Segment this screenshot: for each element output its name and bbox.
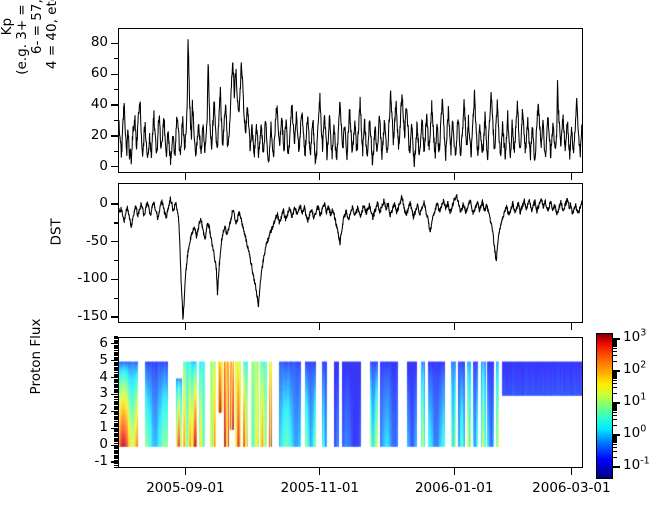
colorbar-tick-minor bbox=[613, 375, 617, 376]
axis-title-line: 6- = 57, bbox=[30, 0, 45, 75]
colorbar-tick-minor bbox=[613, 436, 617, 437]
y-tick-minor bbox=[114, 433, 118, 434]
y-tick-minor bbox=[114, 385, 118, 386]
colorbar-exponent: -1 bbox=[640, 456, 649, 467]
kp-plot-panel bbox=[118, 28, 583, 173]
y-tick-label: 4 bbox=[99, 371, 108, 385]
y-tick-minor bbox=[114, 389, 118, 390]
x-tick bbox=[454, 173, 455, 180]
y-tick-major bbox=[111, 104, 118, 105]
colorbar-exponent: 3 bbox=[640, 328, 646, 339]
y-tick-minor bbox=[114, 353, 118, 354]
y-tick-minor bbox=[114, 416, 118, 417]
y-tick-minor bbox=[114, 455, 118, 456]
y-tick-minor bbox=[114, 379, 118, 380]
y-tick-minor bbox=[114, 409, 118, 410]
colorbar-tick-minor bbox=[613, 355, 617, 356]
colorbar-exponent: 0 bbox=[640, 424, 646, 435]
y-tick-minor bbox=[114, 338, 118, 339]
y-tick-minor bbox=[114, 348, 118, 349]
dst-plot-panel bbox=[118, 183, 583, 323]
x-tick bbox=[454, 323, 455, 330]
x-tick bbox=[571, 323, 572, 330]
y-tick-major bbox=[111, 43, 118, 44]
colorbar-tick-label: 103 bbox=[623, 331, 646, 345]
colorbar-tick-minor bbox=[613, 341, 617, 342]
y-tick-minor bbox=[114, 120, 118, 121]
y-tick-label: -150 bbox=[77, 310, 108, 324]
colorbar-tick-minor bbox=[613, 444, 617, 445]
y-tick-label: 5 bbox=[99, 354, 108, 368]
y-tick-minor bbox=[114, 390, 118, 391]
x-tick bbox=[185, 468, 186, 475]
x-tick bbox=[571, 468, 572, 475]
y-tick-minor bbox=[114, 368, 118, 369]
y-tick-minor bbox=[114, 434, 118, 435]
y-tick-major bbox=[111, 166, 118, 167]
y-tick-minor bbox=[114, 414, 118, 415]
y-tick-minor bbox=[114, 362, 118, 363]
colorbar-tick-minor bbox=[613, 377, 617, 378]
y-tick-label: 60 bbox=[91, 67, 108, 81]
y-tick-major bbox=[111, 74, 118, 75]
y-tick-minor bbox=[114, 352, 118, 353]
colorbar-tick-minor bbox=[613, 380, 617, 381]
colorbar-tick-label: 10-1 bbox=[623, 459, 650, 473]
y-tick-minor bbox=[114, 372, 118, 373]
colorbar-tick-minor bbox=[613, 447, 617, 448]
y-tick-minor bbox=[114, 441, 118, 442]
y-tick-minor bbox=[114, 424, 118, 425]
colorbar bbox=[596, 333, 613, 479]
y-tick-minor bbox=[114, 402, 118, 403]
x-tick-label: 2006-01-01 bbox=[415, 482, 493, 496]
y-tick-minor bbox=[114, 421, 118, 422]
proton-flux-axis-title: Proton Flux bbox=[29, 319, 44, 395]
y-tick-minor bbox=[114, 401, 118, 402]
y-tick-minor bbox=[114, 222, 118, 223]
y-tick-minor bbox=[114, 340, 118, 341]
y-tick-minor bbox=[114, 436, 118, 437]
y-tick-minor bbox=[114, 370, 118, 371]
x-tick-label: 2006-03-01 bbox=[532, 482, 610, 496]
y-tick-minor bbox=[114, 465, 118, 466]
colorbar-tick-minor bbox=[613, 451, 617, 452]
y-tick-minor bbox=[114, 448, 118, 449]
colorbar-tick-label: 102 bbox=[623, 363, 646, 377]
colorbar-exponent: 2 bbox=[640, 360, 646, 371]
y-tick-minor bbox=[114, 450, 118, 451]
colorbar-tick-minor bbox=[613, 372, 617, 373]
y-tick-minor bbox=[114, 453, 118, 454]
dst-axis-title: DST bbox=[49, 218, 64, 245]
y-tick-minor bbox=[114, 384, 118, 385]
x-tick bbox=[319, 173, 320, 180]
y-tick-label: 0 bbox=[99, 438, 108, 452]
y-tick-label: 40 bbox=[91, 98, 108, 112]
colorbar-tick-minor bbox=[613, 393, 617, 394]
x-tick-label: 2005-11-01 bbox=[281, 482, 359, 496]
y-tick-minor bbox=[114, 358, 118, 359]
y-tick-label: 20 bbox=[91, 129, 108, 143]
y-tick-minor bbox=[114, 419, 118, 420]
y-tick-major bbox=[111, 135, 118, 136]
y-tick-minor bbox=[114, 341, 118, 342]
colorbar-tick-minor bbox=[613, 407, 617, 408]
x-tick bbox=[319, 323, 320, 330]
y-tick-minor bbox=[114, 298, 118, 299]
y-tick-minor bbox=[114, 380, 118, 381]
colorbar-tick-minor bbox=[613, 348, 617, 349]
y-tick-minor bbox=[114, 439, 118, 440]
colorbar-tick-minor bbox=[613, 439, 617, 440]
y-tick-minor bbox=[114, 438, 118, 439]
colorbar-tick-minor bbox=[613, 387, 617, 388]
axis-title-line: DST bbox=[49, 218, 64, 245]
y-tick-label: -100 bbox=[77, 272, 108, 286]
colorbar-tick-minor bbox=[613, 437, 617, 438]
y-tick-minor bbox=[114, 260, 118, 261]
y-tick-minor bbox=[114, 392, 118, 393]
y-tick-minor bbox=[114, 336, 118, 337]
colorbar-tick-major bbox=[613, 466, 620, 467]
colorbar-tick-minor bbox=[613, 409, 617, 410]
y-tick-minor bbox=[114, 355, 118, 356]
colorbar-tick-minor bbox=[613, 345, 617, 346]
kp-series-line bbox=[119, 29, 582, 172]
colorbar-exponent: 1 bbox=[640, 392, 646, 403]
y-tick-minor bbox=[114, 367, 118, 368]
colorbar-tick-minor bbox=[613, 441, 617, 442]
proton-flux-plot-panel bbox=[118, 337, 583, 468]
y-tick-minor bbox=[114, 387, 118, 388]
y-tick-minor bbox=[114, 345, 118, 346]
y-tick-minor bbox=[114, 467, 118, 468]
y-tick-minor bbox=[114, 407, 118, 408]
axis-title-line: Proton Flux bbox=[29, 319, 44, 395]
y-tick-label: -50 bbox=[86, 235, 108, 249]
colorbar-tick-minor bbox=[613, 343, 617, 344]
y-tick-minor bbox=[114, 375, 118, 376]
y-tick-minor bbox=[114, 456, 118, 457]
y-tick-label: 1 bbox=[99, 421, 108, 435]
colorbar-tick-minor bbox=[613, 404, 617, 405]
y-tick-label: 80 bbox=[91, 36, 108, 50]
y-tick-minor bbox=[114, 417, 118, 418]
kp-axis-title: Kp(e.g. 3+ = 33,6- = 57,4 = 40, etc.) bbox=[0, 0, 60, 75]
y-tick-minor bbox=[114, 404, 118, 405]
colorbar-tick-label: 101 bbox=[623, 395, 646, 409]
y-tick-minor bbox=[114, 346, 118, 347]
colorbar-tick-minor bbox=[613, 412, 617, 413]
y-tick-minor bbox=[114, 151, 118, 152]
y-tick-minor bbox=[114, 406, 118, 407]
y-tick-minor bbox=[114, 443, 118, 444]
colorbar-gradient bbox=[596, 333, 613, 479]
y-tick-label: 2 bbox=[99, 404, 108, 418]
x-tick bbox=[571, 173, 572, 180]
y-tick-minor bbox=[114, 426, 118, 427]
y-tick-minor bbox=[114, 463, 118, 464]
y-tick-label: 3 bbox=[99, 387, 108, 401]
y-tick-minor bbox=[114, 451, 118, 452]
y-tick-minor bbox=[114, 350, 118, 351]
y-tick-label: 6 bbox=[99, 337, 108, 351]
y-tick-minor bbox=[114, 396, 118, 397]
colorbar-tick-minor bbox=[613, 415, 617, 416]
y-tick-minor bbox=[114, 365, 118, 366]
colorbar-tick-minor bbox=[613, 405, 617, 406]
x-tick bbox=[319, 468, 320, 475]
colorbar-tick-minor bbox=[613, 419, 617, 420]
y-tick-minor bbox=[114, 89, 118, 90]
colorbar-tick-minor bbox=[613, 383, 617, 384]
colorbar-tick-minor bbox=[613, 351, 617, 352]
dst-series-line bbox=[119, 184, 582, 322]
y-tick-label: 0 bbox=[99, 160, 108, 174]
y-tick-minor bbox=[114, 446, 118, 447]
colorbar-tick-minor bbox=[613, 425, 617, 426]
colorbar-tick-label: 100 bbox=[623, 427, 646, 441]
colorbar-tick-minor bbox=[613, 361, 617, 362]
x-tick bbox=[185, 323, 186, 330]
axis-title-line: (e.g. 3+ = 33, bbox=[15, 0, 30, 75]
colorbar-tick-minor bbox=[613, 457, 617, 458]
y-tick-label: -1 bbox=[95, 455, 108, 469]
y-tick-minor bbox=[114, 458, 118, 459]
axis-title-line: 4 = 40, etc.) bbox=[45, 0, 60, 75]
colorbar-tick-minor bbox=[613, 340, 617, 341]
y-tick-major bbox=[111, 203, 118, 204]
y-tick-minor bbox=[114, 374, 118, 375]
x-tick-label: 2005-09-01 bbox=[146, 482, 224, 496]
colorbar-tick-minor bbox=[613, 373, 617, 374]
y-tick-minor bbox=[114, 357, 118, 358]
y-tick-minor bbox=[114, 397, 118, 398]
y-tick-major bbox=[111, 279, 118, 280]
y-tick-minor bbox=[114, 431, 118, 432]
y-tick-minor bbox=[114, 382, 118, 383]
y-tick-minor bbox=[114, 423, 118, 424]
y-tick-minor bbox=[114, 399, 118, 400]
y-tick-label: 0 bbox=[99, 197, 108, 211]
x-tick bbox=[185, 173, 186, 180]
y-tick-minor bbox=[114, 460, 118, 461]
y-tick-minor bbox=[114, 363, 118, 364]
x-tick bbox=[454, 468, 455, 475]
y-tick-major bbox=[111, 241, 118, 242]
axis-title-line: Kp bbox=[0, 0, 15, 75]
y-tick-minor bbox=[114, 429, 118, 430]
figure-canvas: 020406080 Kp(e.g. 3+ = 33,6- = 57,4 = 40… bbox=[0, 0, 665, 523]
proton-flux-heatmap bbox=[119, 338, 583, 468]
y-tick-minor bbox=[114, 412, 118, 413]
y-tick-minor bbox=[114, 58, 118, 59]
y-tick-major bbox=[111, 316, 118, 317]
